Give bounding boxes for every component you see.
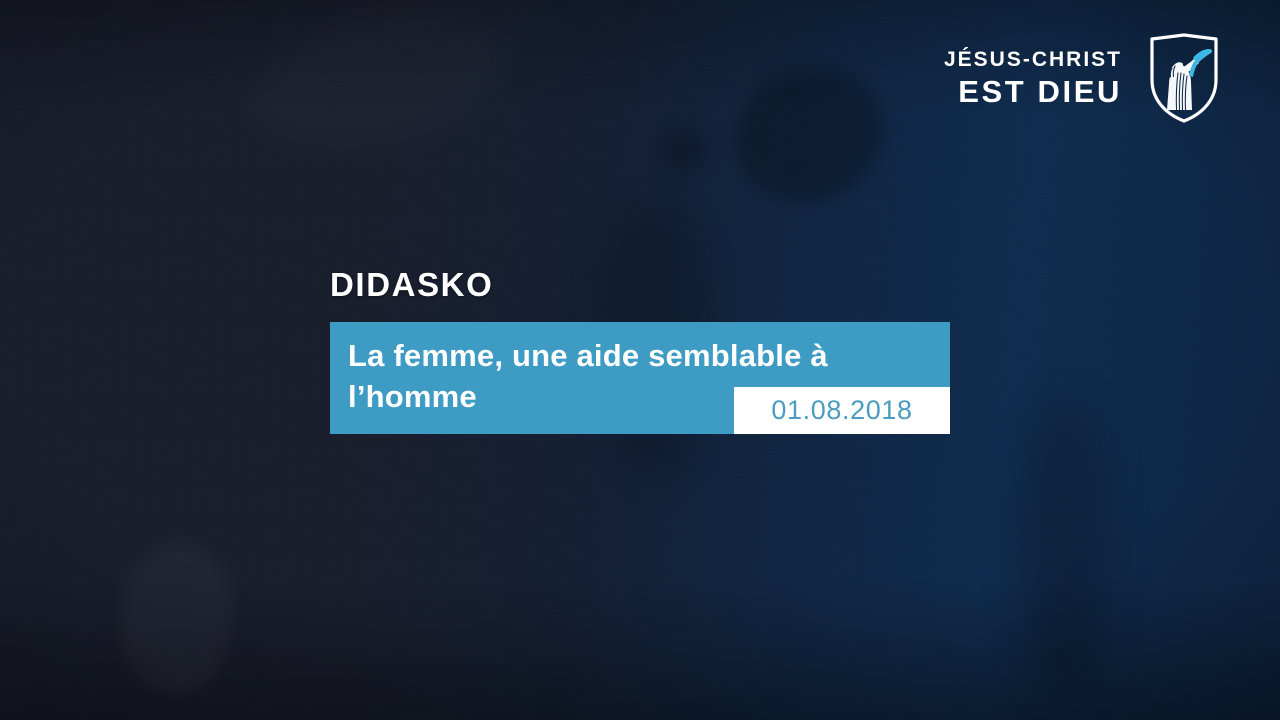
video-title-card: JÉSUS-CHRIST EST DIEU	[0, 0, 1280, 720]
date-text: 01.08.2018	[771, 395, 912, 426]
lower-third: DIDASKO La femme, une aide semblable à l…	[330, 268, 950, 434]
date-chip: 01.08.2018	[734, 387, 950, 434]
brand-lockup: JÉSUS-CHRIST EST DIEU	[944, 32, 1220, 124]
shield-shofar-icon	[1148, 32, 1220, 124]
series-kicker: DIDASKO	[330, 268, 950, 301]
brand-wordmark: JÉSUS-CHRIST EST DIEU	[944, 49, 1122, 107]
brand-line-jesus-christ: JÉSUS-CHRIST	[944, 49, 1122, 70]
title-bar: La femme, une aide semblable à l’homme 0…	[330, 322, 950, 434]
brand-line-est-dieu: EST DIEU	[958, 76, 1122, 107]
